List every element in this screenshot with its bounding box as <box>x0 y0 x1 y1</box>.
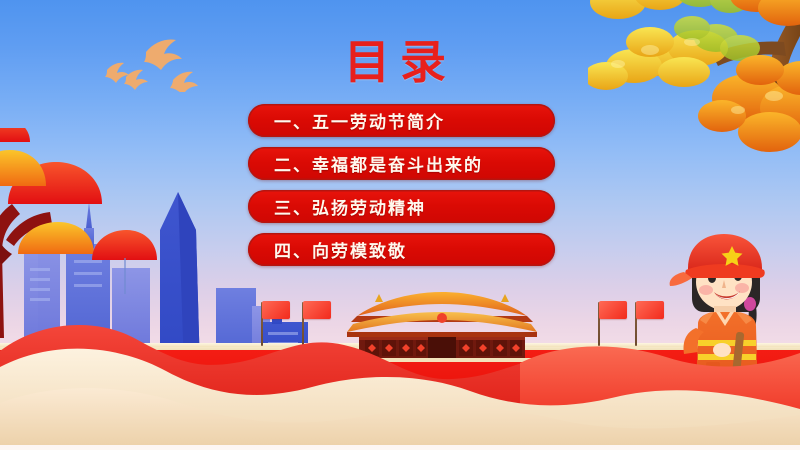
toc-item-1-label: 一、五一劳动节简介 <box>274 108 445 133</box>
toc-item-2-label: 二、幸福都是奋斗出来的 <box>274 151 483 176</box>
table-of-contents: 一、五一劳动节简介 二、幸福都是奋斗出来的 三、弘扬劳动精神 四、向劳模致敬 <box>248 104 555 276</box>
toc-item-2[interactable]: 二、幸福都是奋斗出来的 <box>248 147 555 180</box>
toc-item-1[interactable]: 一、五一劳动节简介 <box>248 104 555 137</box>
layered-hills <box>0 305 800 450</box>
toc-item-4[interactable]: 四、向劳模致敬 <box>248 233 555 266</box>
toc-item-4-label: 四、向劳模致敬 <box>274 237 407 262</box>
toc-item-3-label: 三、弘扬劳动精神 <box>274 194 426 219</box>
page-title: 目录 <box>0 26 800 92</box>
slide-canvas: 目录 一、五一劳动节简介 二、幸福都是奋斗出来的 三、弘扬劳动精神 四、向劳模致… <box>0 0 800 450</box>
toc-item-3[interactable]: 三、弘扬劳动精神 <box>248 190 555 223</box>
